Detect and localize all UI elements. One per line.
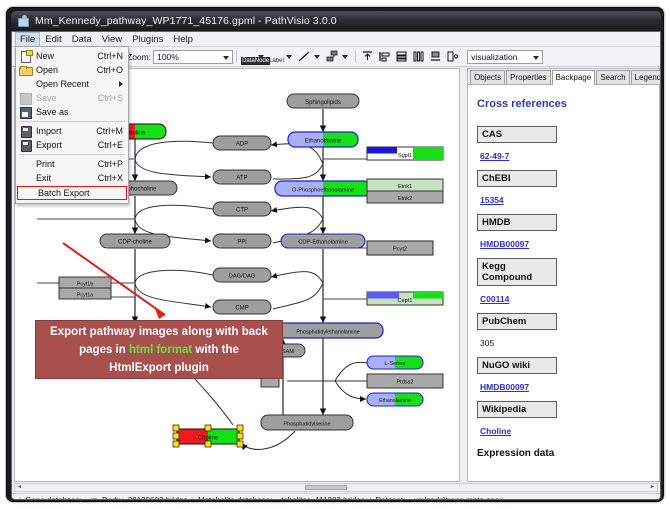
menu-item-accel: Ctrl+M xyxy=(96,126,128,136)
status-divider-0: | xyxy=(19,496,21,501)
node-label: O-Phosphoethanolamine xyxy=(292,188,354,194)
node-ethanolamine-top[interactable]: Ethanolamine xyxy=(288,132,358,147)
status-dataset: Dataset: ...wnloads\trans-meta.pgex xyxy=(375,496,503,501)
menu-view[interactable]: View xyxy=(97,33,127,46)
menu-item-open[interactable]: Open Ctrl+O xyxy=(16,63,128,77)
scroll-left-arrow-icon[interactable]: ◄ xyxy=(16,485,23,490)
callout-line-2: pages in html format with the xyxy=(36,341,282,359)
xref-value-wikipedia[interactable]: Choline xyxy=(480,426,511,436)
node-label: Ethanolamine xyxy=(379,398,411,404)
gene-label: Pcyt1a xyxy=(77,293,93,299)
chevron-down-icon xyxy=(223,56,229,60)
gene-pcyt1b[interactable]: Pcyt1b xyxy=(59,277,111,288)
xref-value-chebi[interactable]: 15354 xyxy=(480,195,504,205)
window-client-area: File Edit Data View Plugins Help Zoom: 1… xyxy=(11,31,661,500)
node-label: CDP-Ethanolamine xyxy=(298,240,348,246)
node-l-serine[interactable]: L-Serine xyxy=(367,356,423,369)
submenu-arrow-icon xyxy=(119,81,123,87)
node-label: PPi xyxy=(237,240,246,246)
toolbar-divider xyxy=(236,50,237,63)
xref-value-cas[interactable]: 62-49-7 xyxy=(480,151,509,161)
node-label: Choline xyxy=(198,436,219,442)
menu-item-open-recent[interactable]: Open Recent xyxy=(16,77,128,91)
node-cdp-choline[interactable]: CDP-choline xyxy=(100,234,170,248)
node-phosphatidylethanolamine[interactable]: Phosphatidylethanolamine xyxy=(273,323,383,338)
menu-help[interactable]: Help xyxy=(168,33,198,46)
gene-label: Etnk2 xyxy=(398,196,412,202)
menu-file[interactable]: File xyxy=(15,32,40,46)
label-dropdown-icon[interactable] xyxy=(286,55,292,59)
no-icon xyxy=(20,187,35,199)
xref-label-wikipedia: Wikipedia xyxy=(477,401,557,418)
menu-item-label: Save xyxy=(36,93,98,103)
node-ctp[interactable]: CTP xyxy=(213,202,271,216)
line-tool-icon[interactable] xyxy=(297,49,312,64)
zoom-combo[interactable]: 100% xyxy=(153,50,233,64)
status-divider-1: | xyxy=(192,496,194,501)
no-icon xyxy=(18,78,33,90)
no-icon xyxy=(18,158,33,170)
menu-item-batch-export[interactable]: Batch Export xyxy=(17,186,127,200)
gene-label: Ptdss2 xyxy=(396,380,413,386)
menu-item-print[interactable]: Print Ctrl+P xyxy=(16,157,128,171)
node-ethanolamine-bottom[interactable]: Ethanolamine xyxy=(367,393,423,406)
app-root: Mm_Kennedy_pathway_WP1771_45176.gpml - P… xyxy=(0,0,670,509)
menu-bar: File Edit Data View Plugins Help xyxy=(12,32,660,47)
node-label: SAM xyxy=(282,349,294,355)
save-disk-icon xyxy=(18,92,33,104)
callout-line-2-post: with the xyxy=(192,344,239,356)
file-menu-dropdown[interactable]: New Ctrl+N Open Ctrl+O Open Recent Save … xyxy=(15,46,129,204)
menu-edit[interactable]: Edit xyxy=(40,33,66,46)
xref-value-nugo-wiki[interactable]: HMDB00097 xyxy=(480,382,529,392)
visualization-combo[interactable]: visualization xyxy=(467,50,543,64)
menu-item-label: Export xyxy=(36,140,98,150)
node-label: Ethanolamine xyxy=(305,139,342,145)
menu-item-label: Exit xyxy=(36,173,98,183)
toolbar-divider-2 xyxy=(355,50,356,63)
hscrollbar-thumb[interactable] xyxy=(305,485,347,490)
menu-item-export[interactable]: Export Ctrl+E xyxy=(16,138,128,152)
menu-item-label: New xyxy=(36,51,97,61)
chevron-down-icon-2 xyxy=(533,56,539,60)
status-metabolite-database: Metabolite database: ...tabolites_111203… xyxy=(198,496,365,501)
gene-label: Etnk1 xyxy=(398,184,412,190)
gene-ptdss2[interactable]: Ptdss2 xyxy=(367,374,443,388)
node-cdp-ethanolamine[interactable]: CDP-Ethanolamine xyxy=(281,234,365,248)
tab-objects[interactable]: Objects xyxy=(470,70,505,84)
window-title: Mm_Kennedy_pathway_WP1771_45176.gpml - P… xyxy=(35,15,337,27)
gene-label: Sgpl1 xyxy=(398,153,412,159)
xref-value-pubchem: 305 xyxy=(480,338,494,348)
expression-data-heading: Expression data xyxy=(477,448,650,459)
pathvisio-app-icon xyxy=(17,15,29,27)
node-label: CMP xyxy=(235,306,248,312)
gene-label: Pcyt2 xyxy=(393,247,407,253)
cross-references-heading: Cross references xyxy=(477,98,650,110)
node-ppi[interactable]: PPi xyxy=(213,234,271,248)
xref-label-cas: CAS xyxy=(477,126,557,143)
application-window: Mm_Kennedy_pathway_WP1771_45176.gpml - P… xyxy=(6,7,664,502)
menu-item-accel: Ctrl+N xyxy=(97,51,128,61)
menu-item-import[interactable]: Import Ctrl+M xyxy=(16,124,128,138)
zoom-value: 100% xyxy=(157,52,179,62)
tab-legend[interactable]: Legend xyxy=(631,70,661,84)
align-left-icon[interactable] xyxy=(377,49,392,64)
menu-item-accel: Ctrl+X xyxy=(98,173,128,183)
node-atp[interactable]: ATP xyxy=(213,170,271,184)
gene-cept1[interactable]: Cept1 xyxy=(367,292,443,305)
node-cmp[interactable]: CMP xyxy=(213,300,271,314)
gene-pcyt1a[interactable]: Pcyt1a xyxy=(59,288,111,299)
tab-backpage[interactable]: Backpage xyxy=(552,70,596,85)
stack-vertical-icon[interactable] xyxy=(394,49,409,64)
backpage-content: Cross references CAS 62-49-7 ChEBI 15354… xyxy=(468,85,659,481)
horizontal-scrollbar[interactable]: ◄ ► xyxy=(14,483,658,492)
visualization-value: visualization xyxy=(471,52,517,62)
node-label: Sphingolipids xyxy=(305,100,341,106)
line-dropdown-icon[interactable] xyxy=(314,55,320,59)
node-sphingolipids[interactable]: Sphingolipids xyxy=(287,94,359,108)
node-choline-selected[interactable]: Choline xyxy=(173,425,243,447)
gene-pcyt2[interactable]: Pcyt2 xyxy=(367,241,433,255)
menu-item-accel: Ctrl+E xyxy=(98,140,128,150)
gene-etnk1[interactable]: Etnk1 xyxy=(367,179,443,191)
import-icon xyxy=(18,125,33,137)
menu-item-label: Open Recent xyxy=(36,79,128,89)
scroll-right-arrow-icon[interactable]: ► xyxy=(649,485,656,490)
xref-label-chebi: ChEBI xyxy=(477,170,557,187)
node-phosphatidylserine[interactable]: Phosphatidylserine xyxy=(261,415,353,430)
annotation-callout: Export pathway images along with back pa… xyxy=(35,320,283,379)
tab-properties[interactable]: Properties xyxy=(506,70,550,84)
node-label: Phosphatidylserine xyxy=(283,422,330,428)
bring-to-front-icon[interactable] xyxy=(445,49,460,64)
node-label: CTP xyxy=(236,208,248,214)
gene-label: Pcyt1b xyxy=(77,282,93,288)
callout-line-1: Export pathway images along with back xyxy=(36,323,282,341)
menu-separator-1 xyxy=(19,121,125,122)
node-label: DAG/DAG xyxy=(229,274,256,280)
zoom-label: Zoom: xyxy=(127,52,151,62)
export-icon xyxy=(18,139,33,151)
node-dagdag[interactable]: DAG/DAG xyxy=(213,268,271,282)
node-label: ADP xyxy=(236,142,248,148)
open-folder-icon xyxy=(18,64,33,76)
node-label: L-Serine xyxy=(384,361,405,367)
node-adp[interactable]: ADP xyxy=(213,136,271,150)
datanode-glyph: DataNode xyxy=(241,57,270,65)
node-label: Phosphatidylethanolamine xyxy=(296,330,359,336)
xref-value-kegg-compound[interactable]: C00114 xyxy=(480,294,509,304)
save-as-disk-icon xyxy=(18,106,33,118)
datanode-tool-icon[interactable]: DataNode xyxy=(241,49,256,64)
node-label: ATP xyxy=(236,176,247,182)
menu-data[interactable]: Data xyxy=(67,33,97,46)
menu-item-label: Batch Export xyxy=(38,188,126,198)
gene-etnk2[interactable]: Etnk2 xyxy=(367,191,443,203)
shape-dropdown-icon[interactable] xyxy=(342,55,348,59)
xref-label-hmdb: HMDB xyxy=(477,214,557,231)
menu-item-label: Print xyxy=(36,159,98,169)
menu-item-accel: Ctrl+O xyxy=(97,65,128,75)
node-label: CDP-choline xyxy=(118,240,152,246)
send-to-back-icon[interactable] xyxy=(428,49,443,64)
xref-label-nugo-wiki: NuGO wiki xyxy=(477,357,557,374)
xref-label-kegg-compound: Kegg Compound xyxy=(477,258,557,286)
menu-plugins[interactable]: Plugins xyxy=(127,33,168,46)
shape-tool-icon[interactable] xyxy=(325,49,340,64)
menu-item-accel: Ctrl+P xyxy=(98,159,128,169)
title-bar: Mm_Kennedy_pathway_WP1771_45176.gpml - P… xyxy=(11,11,661,31)
tab-search[interactable]: Search xyxy=(596,70,629,84)
xref-value-hmdb[interactable]: HMDB00097 xyxy=(480,239,529,249)
menu-separator-2 xyxy=(19,154,125,155)
no-icon xyxy=(18,172,33,184)
menu-item-save-as[interactable]: Save as xyxy=(16,105,128,119)
distribute-icon[interactable] xyxy=(411,49,426,64)
callout-line-2-pre: pages in xyxy=(79,344,129,356)
node-o-phosphoethanolamine[interactable]: O-Phosphoethanolamine xyxy=(275,181,371,196)
menu-item-label: Import xyxy=(36,126,96,136)
menu-item-exit[interactable]: Exit Ctrl+X xyxy=(16,171,128,185)
side-panel: Objects Properties Backpage Search Legen… xyxy=(467,68,660,482)
status-gene-database: Gene database: ...m_Derby_20120602.bridg… xyxy=(25,496,188,501)
label-tool-icon[interactable]: Label xyxy=(269,49,284,64)
callout-highlight: html format xyxy=(129,344,192,356)
menu-item-accel: Ctrl+S xyxy=(98,93,128,103)
align-top-icon[interactable] xyxy=(360,49,375,64)
label-glyph: Label xyxy=(269,58,284,64)
side-panel-tabs: Objects Properties Backpage Search Legen… xyxy=(468,69,659,85)
gene-sgpl1[interactable]: Sgpl1 xyxy=(367,147,443,160)
status-bar: | Gene database: ...m_Derby_20120602.bri… xyxy=(12,493,660,500)
xref-label-pubchem: PubChem xyxy=(477,313,557,330)
new-document-icon xyxy=(18,50,33,62)
menu-item-save: Save Ctrl+S xyxy=(16,91,128,105)
status-divider-2: | xyxy=(369,496,371,501)
menu-item-label: Open xyxy=(36,65,97,75)
menu-item-new[interactable]: New Ctrl+N xyxy=(16,49,128,63)
callout-line-3: HtmlExport plugin xyxy=(36,359,282,377)
menu-item-label: Save as xyxy=(36,107,123,117)
gene-label: Cept1 xyxy=(398,298,413,304)
